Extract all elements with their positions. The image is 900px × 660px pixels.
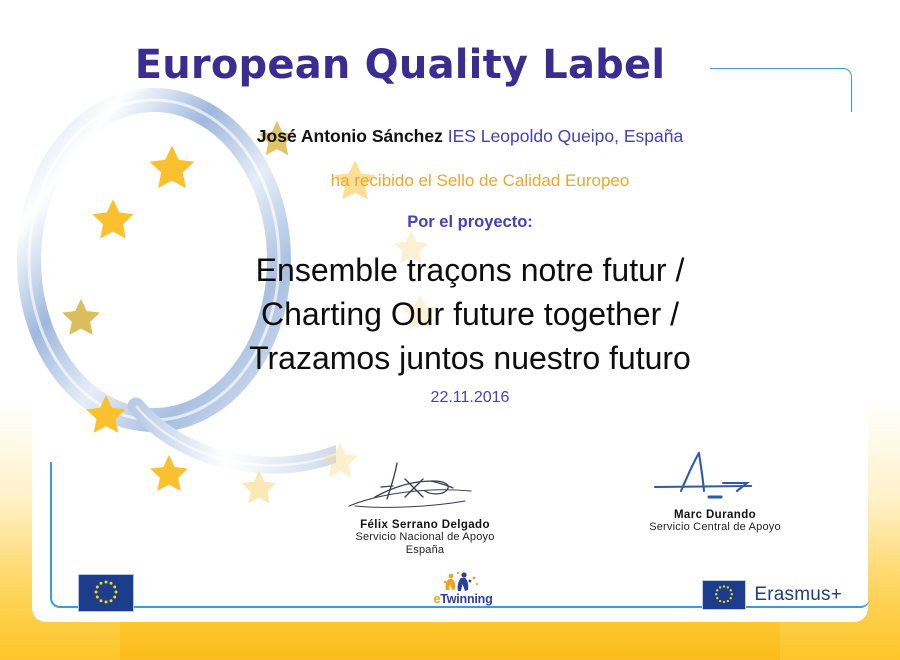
signature-block-left: Félix Serrano Delgado Servicio Nacional … xyxy=(300,455,550,557)
awarded-text: ha recibido el Sello de Calidad Europeo xyxy=(0,171,900,191)
etwinning-wordmark: eTwinning xyxy=(430,592,496,606)
signature-name-left: Félix Serrano Delgado xyxy=(300,519,550,531)
project-title-line-1: Ensemble traçons notre futur / xyxy=(40,248,900,292)
etwinning-logo: eTwinning xyxy=(430,570,496,614)
page-title: European Quality Label xyxy=(0,42,900,88)
project-title-line-2: Charting Our future together / xyxy=(40,292,900,336)
recipient-school: IES Leopoldo Queipo, España xyxy=(448,126,683,146)
signature-role-left-line1: Servicio Nacional de Apoyo xyxy=(300,531,550,544)
eu-flag-icon xyxy=(78,574,134,612)
signature-role-right-line1: Servicio Central de Apoyo xyxy=(590,521,840,534)
project-title: Ensemble traçons notre futur / Charting … xyxy=(0,248,900,380)
erasmus-plus-label: Erasmus+ xyxy=(754,584,842,606)
recipient-line: José Antonio Sánchez IES Leopoldo Queipo… xyxy=(0,126,900,147)
erasmus-plus-logo: Erasmus+ xyxy=(702,580,842,610)
signature-role-left-line2: España xyxy=(300,544,550,557)
project-label: Por el proyecto: xyxy=(0,213,900,232)
certificate-page: European Quality Label José Antonio Sánc… xyxy=(0,0,900,660)
signature-name-right: Marc Durando xyxy=(590,509,840,521)
etwinning-word: Twinning xyxy=(440,592,492,606)
footer-logos: eTwinning xyxy=(0,564,900,616)
signature-image-marc-durando xyxy=(590,445,840,505)
recipient-name: José Antonio Sánchez xyxy=(257,126,443,146)
signature-block-right: Marc Durando Servicio Central de Apoyo xyxy=(590,445,840,534)
project-title-line-3: Trazamos juntos nuestro futuro xyxy=(40,336,900,380)
issue-date: 22.11.2016 xyxy=(0,389,900,407)
eu-flag-icon xyxy=(702,580,746,610)
signature-image-felix-serrano-delgado xyxy=(300,455,550,515)
etwinning-figure-icon xyxy=(430,570,496,594)
